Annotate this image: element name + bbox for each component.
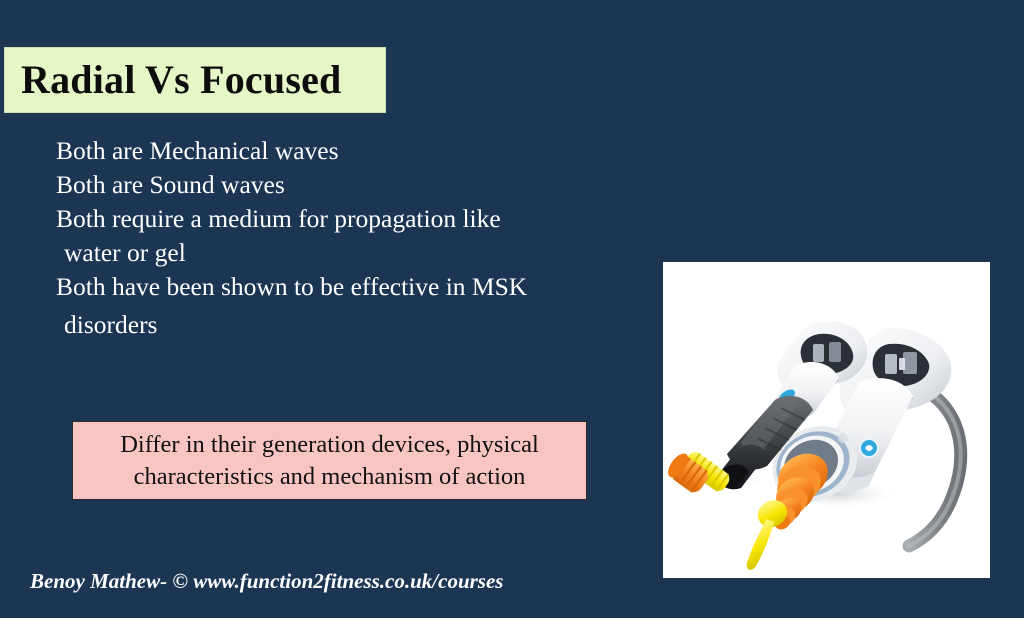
body-line: Both are Mechanical waves xyxy=(56,134,656,168)
body-text-block: Both are Mechanical waves Both are Sound… xyxy=(56,134,656,342)
slide-canvas: Radial Vs Focused Both are Mechanical wa… xyxy=(0,0,1024,618)
body-line: Both have been shown to be effective in … xyxy=(56,270,656,304)
footer-attribution: Benoy Mathew- © www.function2fitness.co.… xyxy=(30,568,503,594)
device-image-panel xyxy=(663,262,990,578)
body-line: water or gel xyxy=(56,236,656,270)
slide-title-box: Radial Vs Focused xyxy=(4,47,386,113)
body-line: Both are Sound waves xyxy=(56,168,656,202)
shockwave-handpieces-image xyxy=(663,262,990,578)
callout-line: Differ in their generation devices, phys… xyxy=(120,429,539,461)
callout-box: Differ in their generation devices, phys… xyxy=(72,421,587,500)
callout-line: characteristics and mechanism of action xyxy=(134,461,526,493)
body-line: disorders xyxy=(56,308,656,342)
body-line: Both require a medium for propagation li… xyxy=(56,202,656,236)
page-title: Radial Vs Focused xyxy=(5,60,342,100)
